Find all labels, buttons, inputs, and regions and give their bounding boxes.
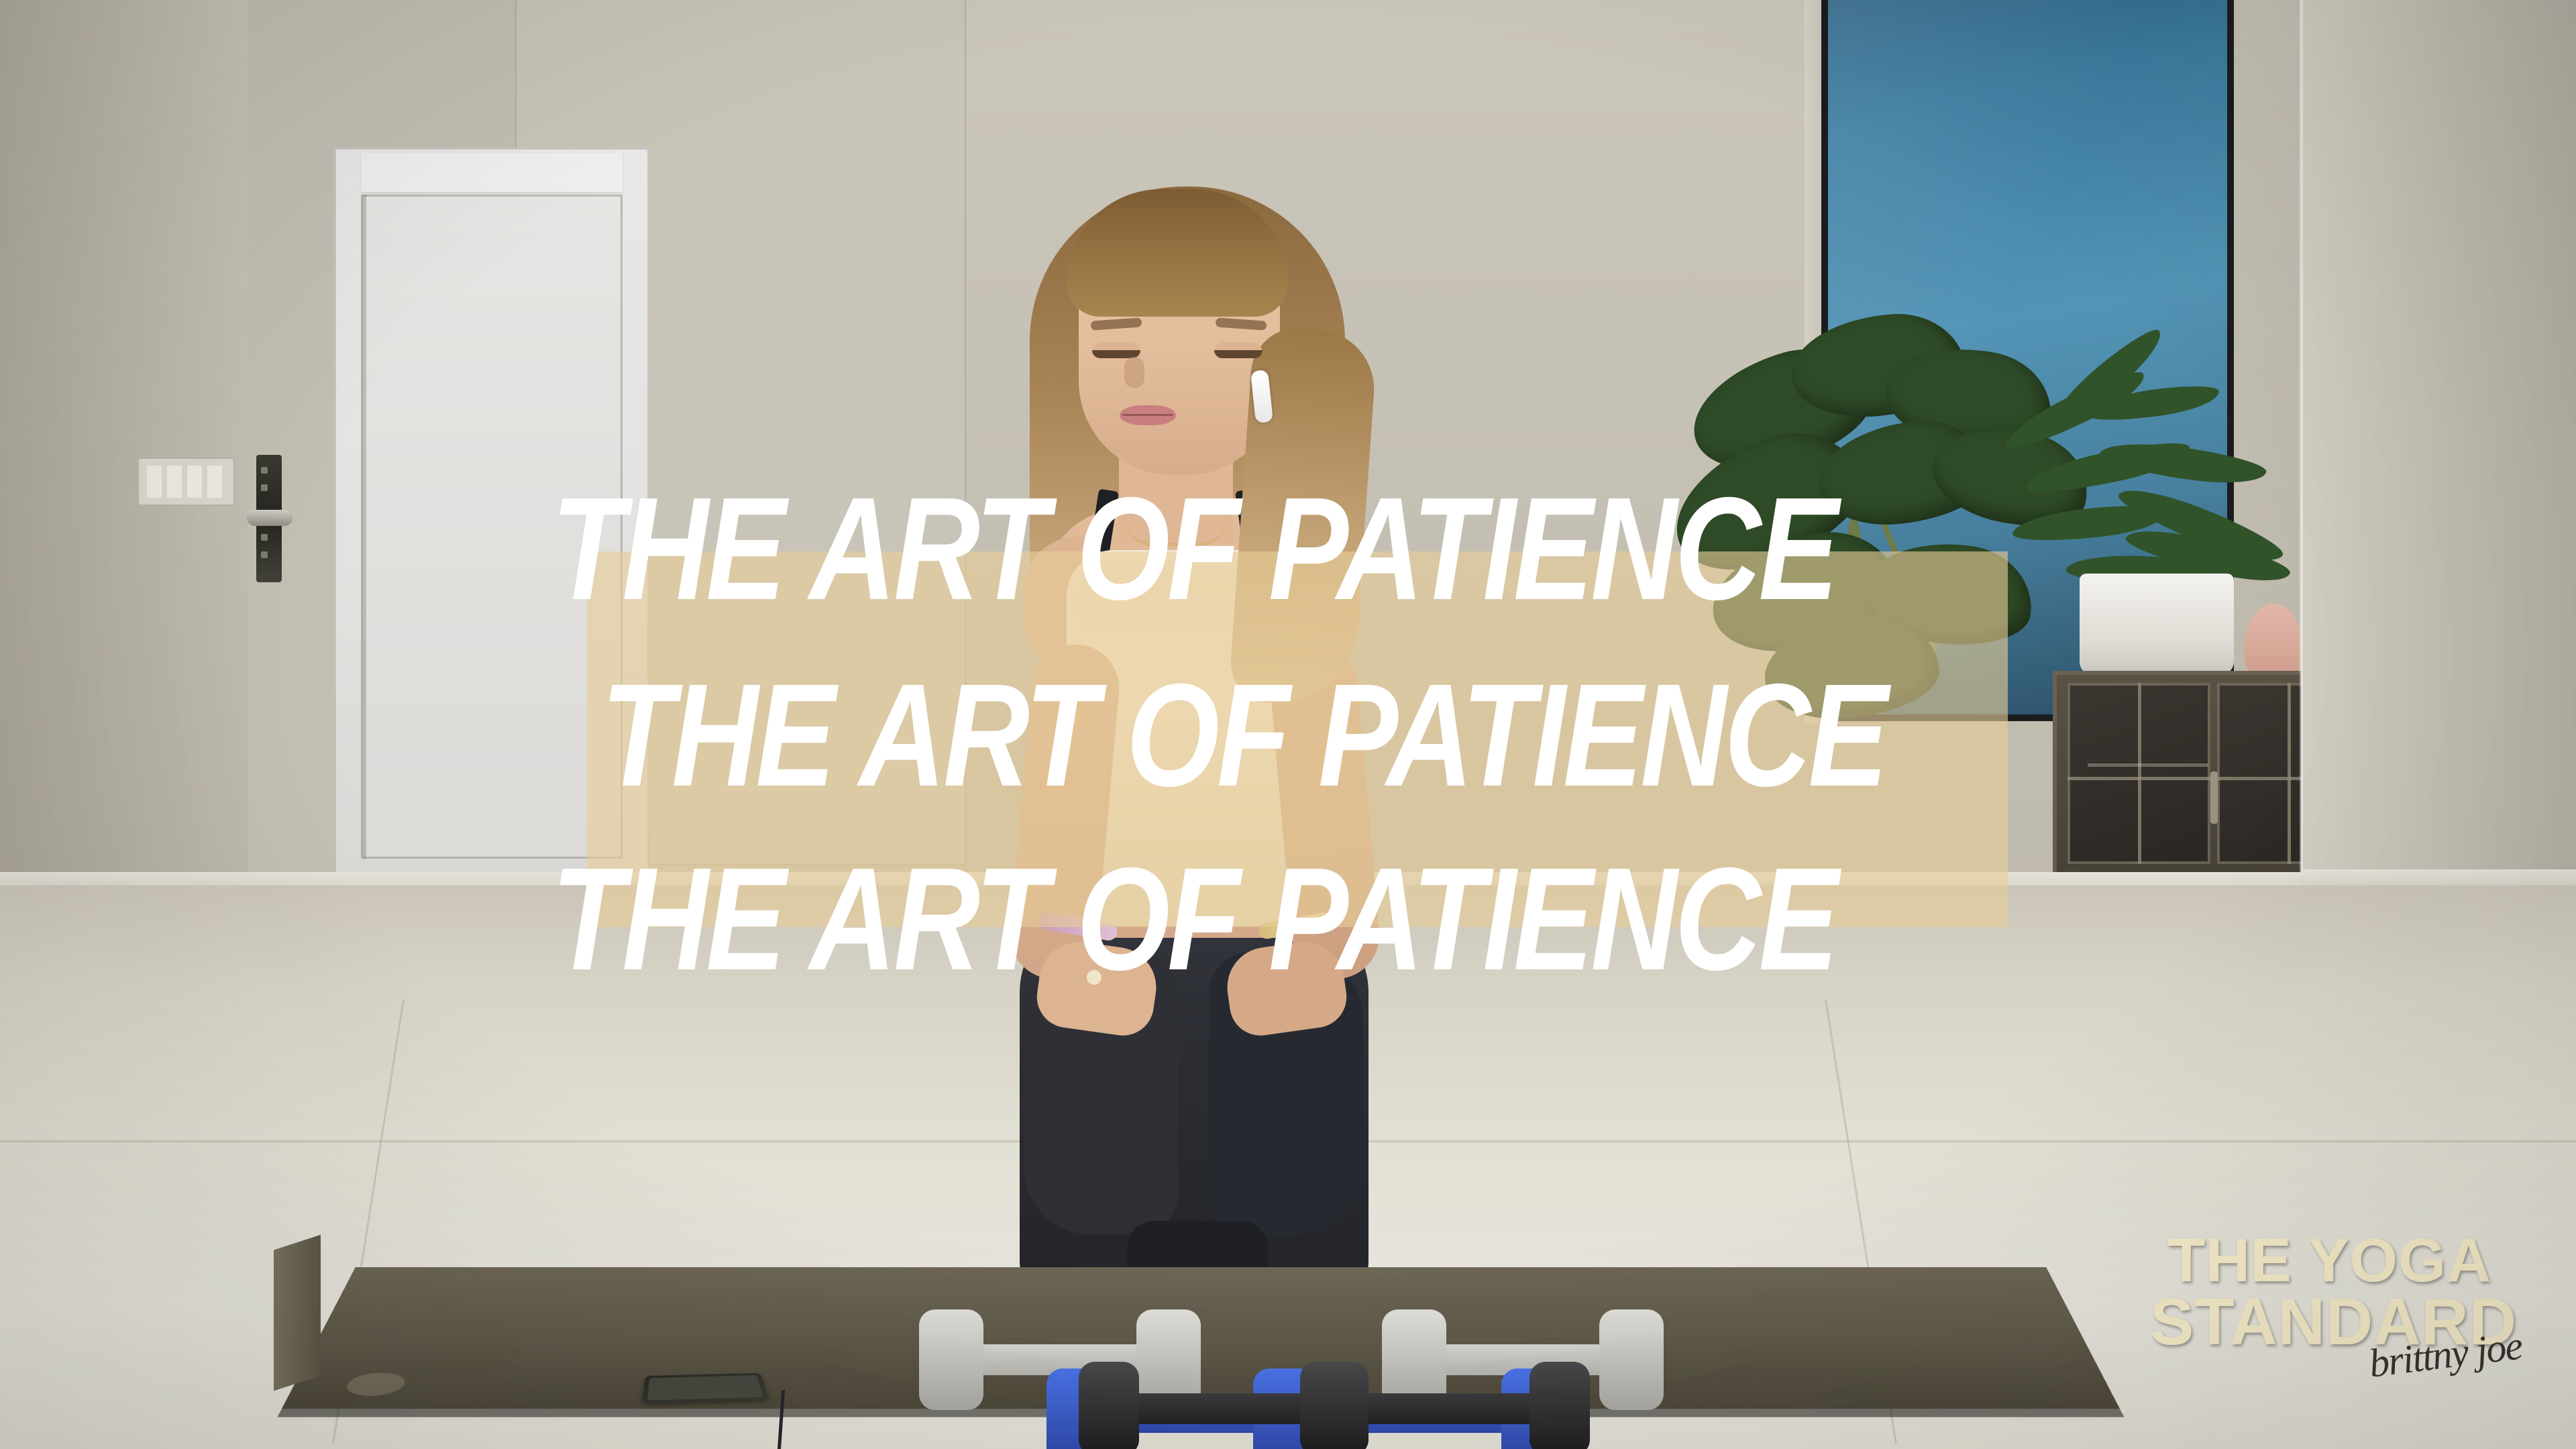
nose [1124, 357, 1144, 388]
lips [1120, 405, 1176, 425]
brand-line-1: THE YOGA [2150, 1231, 2526, 1290]
black-dumbbells [1308, 1362, 1590, 1449]
closed-eye-right [1214, 350, 1263, 358]
cabinet-handle [2210, 771, 2218, 824]
video-frame: THE ART OF PATIENCE THE ART OF PATIENCE … [0, 0, 2576, 1449]
door-stile [362, 195, 366, 859]
brand-logo: THE YOGA STANDARD brittny joe [2150, 1231, 2526, 1405]
door-handle [247, 510, 292, 526]
door-panel [361, 195, 623, 859]
necklace [1123, 515, 1229, 546]
light-switch-plate [138, 458, 235, 506]
wall-shadow-left [0, 0, 282, 899]
phone-on-floor [642, 1373, 768, 1403]
mat-logo-icon [341, 1373, 409, 1395]
mat-curled-edge [274, 1235, 321, 1391]
corner-wall [2301, 0, 2576, 892]
title-tint-band [587, 551, 2008, 927]
corner-edge [2300, 0, 2303, 892]
white-planter [2080, 574, 2234, 674]
ring [1087, 970, 1102, 985]
door-head-trim [361, 153, 623, 192]
cabinet-door-left [2068, 683, 2210, 864]
